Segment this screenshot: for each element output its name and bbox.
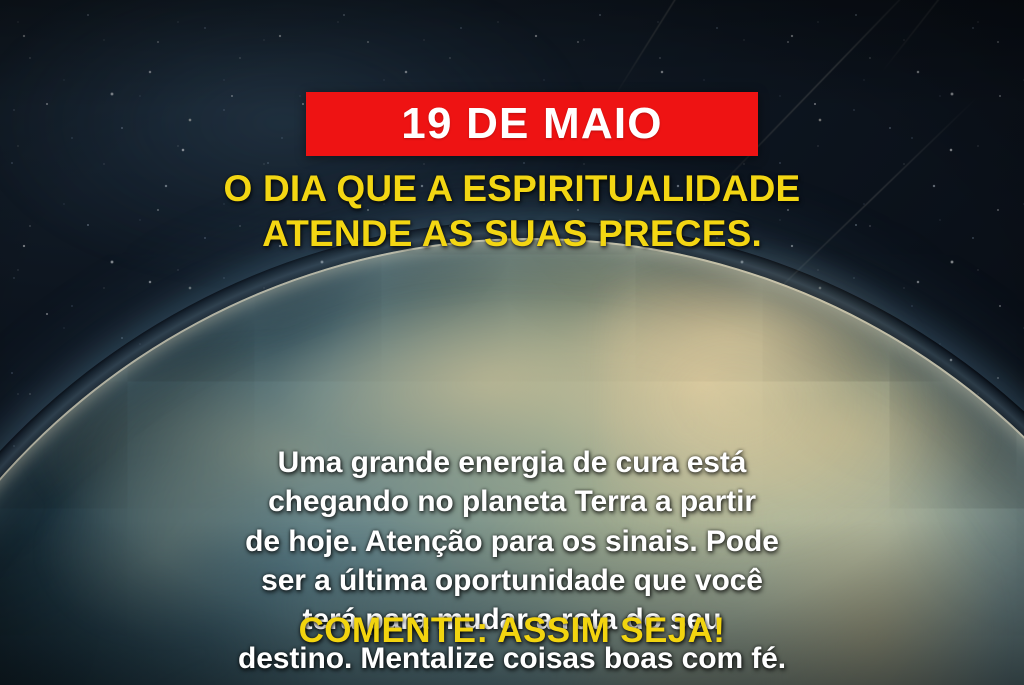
headline-line-1: O DIA QUE A ESPIRITUALIDADE [40,166,984,211]
body-line-2: chegando no planeta Terra a partir [48,482,976,521]
body-line-3: de hoje. Atenção para os sinais. Pode [48,522,976,561]
date-banner-label: 19 DE MAIO [401,102,662,146]
poster-canvas: 19 DE MAIO O DIA QUE A ESPIRITUALIDADE A… [0,0,1024,685]
headline: O DIA QUE A ESPIRITUALIDADE ATENDE AS SU… [0,166,1024,256]
body-line-1: Uma grande energia de cura está [48,443,976,482]
poster-content: 19 DE MAIO O DIA QUE A ESPIRITUALIDADE A… [0,0,1024,685]
date-banner: 19 DE MAIO [306,92,758,156]
headline-line-2: ATENDE AS SUAS PRECES. [40,211,984,256]
call-to-action: COMENTE: ASSIM SEJA! [0,612,1024,651]
body-line-4: ser a última oportunidade que você [48,561,976,600]
call-to-action-label: COMENTE: ASSIM SEJA! [299,611,726,650]
